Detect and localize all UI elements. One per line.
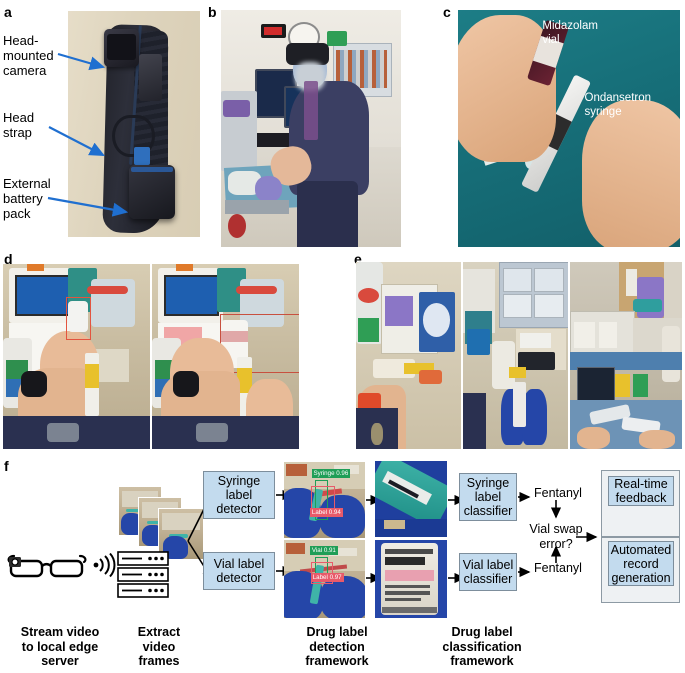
- vial-label-tag: Label 0.97: [311, 573, 344, 582]
- caption-extract-frames: Extract video frames: [124, 625, 194, 669]
- caption-detection-framework: Drug label detection framework: [294, 625, 380, 669]
- box-line: feedback: [614, 491, 668, 505]
- panel-letter-a: a: [4, 5, 12, 19]
- panel-d-photo-left: [3, 264, 150, 449]
- panel-c-photo: Midazolam vial Ondansetron syringe: [458, 10, 680, 247]
- panel-letter-b: b: [208, 5, 217, 19]
- syringe-label-classifier-box[interactable]: Syringe label classifier: [459, 473, 517, 521]
- annotation-line: Head-: [3, 33, 65, 48]
- arrow-to-battery: [46, 195, 136, 217]
- caption-line: server: [10, 654, 110, 669]
- caption-line: Drug label: [294, 625, 380, 640]
- box-line: Syringe: [464, 476, 513, 490]
- box-line: record: [611, 557, 671, 571]
- arrow-to-head-strap: [47, 125, 113, 161]
- vial-label-detector-box[interactable]: Vial label detector: [203, 552, 275, 590]
- caption-stream-video: Stream video to local edge server: [10, 625, 110, 669]
- box-line: classifier: [464, 504, 513, 518]
- box-line: label: [216, 488, 261, 502]
- caption-line: video: [124, 640, 194, 655]
- panel-letter-f: f: [4, 459, 9, 473]
- real-time-feedback-box[interactable]: Real-time feedback: [608, 476, 674, 506]
- box-line: classifier: [463, 572, 514, 586]
- wireless-signal-icon: [92, 552, 116, 578]
- panel-d-photo-right: [152, 264, 299, 449]
- vial-label-classifier-box[interactable]: Vial label classifier: [459, 553, 517, 591]
- vial-label-crop-image: [375, 540, 447, 618]
- box-line: generation: [611, 571, 671, 585]
- caption-line: framework: [430, 654, 534, 669]
- caption-line: detection: [294, 640, 380, 655]
- label-line: vial: [542, 33, 598, 47]
- server-stack-icon: [117, 551, 169, 599]
- panel-e-photo-1: [356, 262, 461, 449]
- smart-glasses-icon: [6, 550, 88, 584]
- box-line: Vial label: [463, 558, 514, 572]
- panel-letter-c: c: [443, 5, 451, 19]
- label-ondansetron-syringe: Ondansetron syringe: [585, 91, 652, 119]
- arrow-decision-to-outputs: [576, 532, 602, 542]
- syringe-detection-tag: Syringe 0.96: [312, 469, 351, 478]
- syringe-classifier-output: Fentanyl: [530, 486, 586, 501]
- arrow-to-camera: [56, 52, 112, 72]
- automated-record-generation-box[interactable]: Automated record generation: [608, 541, 674, 586]
- caption-line: Extract: [124, 625, 194, 640]
- vial-detection-image: Vial 0.91 Label 0.97: [284, 540, 365, 618]
- caption-line: to local edge: [10, 640, 110, 655]
- label-line: syringe: [585, 105, 652, 119]
- annotation-line: Head: [3, 110, 65, 125]
- syringe-label-tag: Label 0.94: [310, 508, 343, 517]
- panel-e-photo-2: [463, 262, 568, 449]
- label-midazolam-vial: Midazolam vial: [542, 19, 598, 47]
- box-line: Automated: [611, 543, 671, 557]
- arrow-down-to-decision: [551, 500, 561, 522]
- vial-detection-tag: Vial 0.91: [310, 546, 338, 555]
- caption-line: frames: [124, 654, 194, 669]
- box-line: label: [464, 490, 513, 504]
- figure-root: a Head- mounted camera Head strap Extern…: [0, 0, 685, 673]
- panel-b-photo: [221, 10, 401, 247]
- box-line: Real-time: [614, 477, 668, 491]
- label-line: Midazolam: [542, 19, 598, 33]
- panel-e-photo-3: [570, 262, 682, 449]
- annotation-line: External: [3, 176, 67, 191]
- box-line: Syringe: [216, 474, 261, 488]
- syringe-detection-image: Syringe 0.96 Label 0.94: [284, 462, 365, 538]
- caption-line: Stream video: [10, 625, 110, 640]
- caption-line: classification: [430, 640, 534, 655]
- box-line: Vial label: [214, 557, 265, 571]
- caption-line: Drug label: [430, 625, 534, 640]
- caption-classification-framework: Drug label classification framework: [430, 625, 534, 669]
- caption-line: framework: [294, 654, 380, 669]
- label-line: Ondansetron: [585, 91, 652, 105]
- box-line: detector: [214, 571, 265, 585]
- syringe-label-crop-image: [375, 461, 447, 537]
- box-line: detector: [216, 502, 261, 516]
- syringe-label-detector-box[interactable]: Syringe label detector: [203, 471, 275, 519]
